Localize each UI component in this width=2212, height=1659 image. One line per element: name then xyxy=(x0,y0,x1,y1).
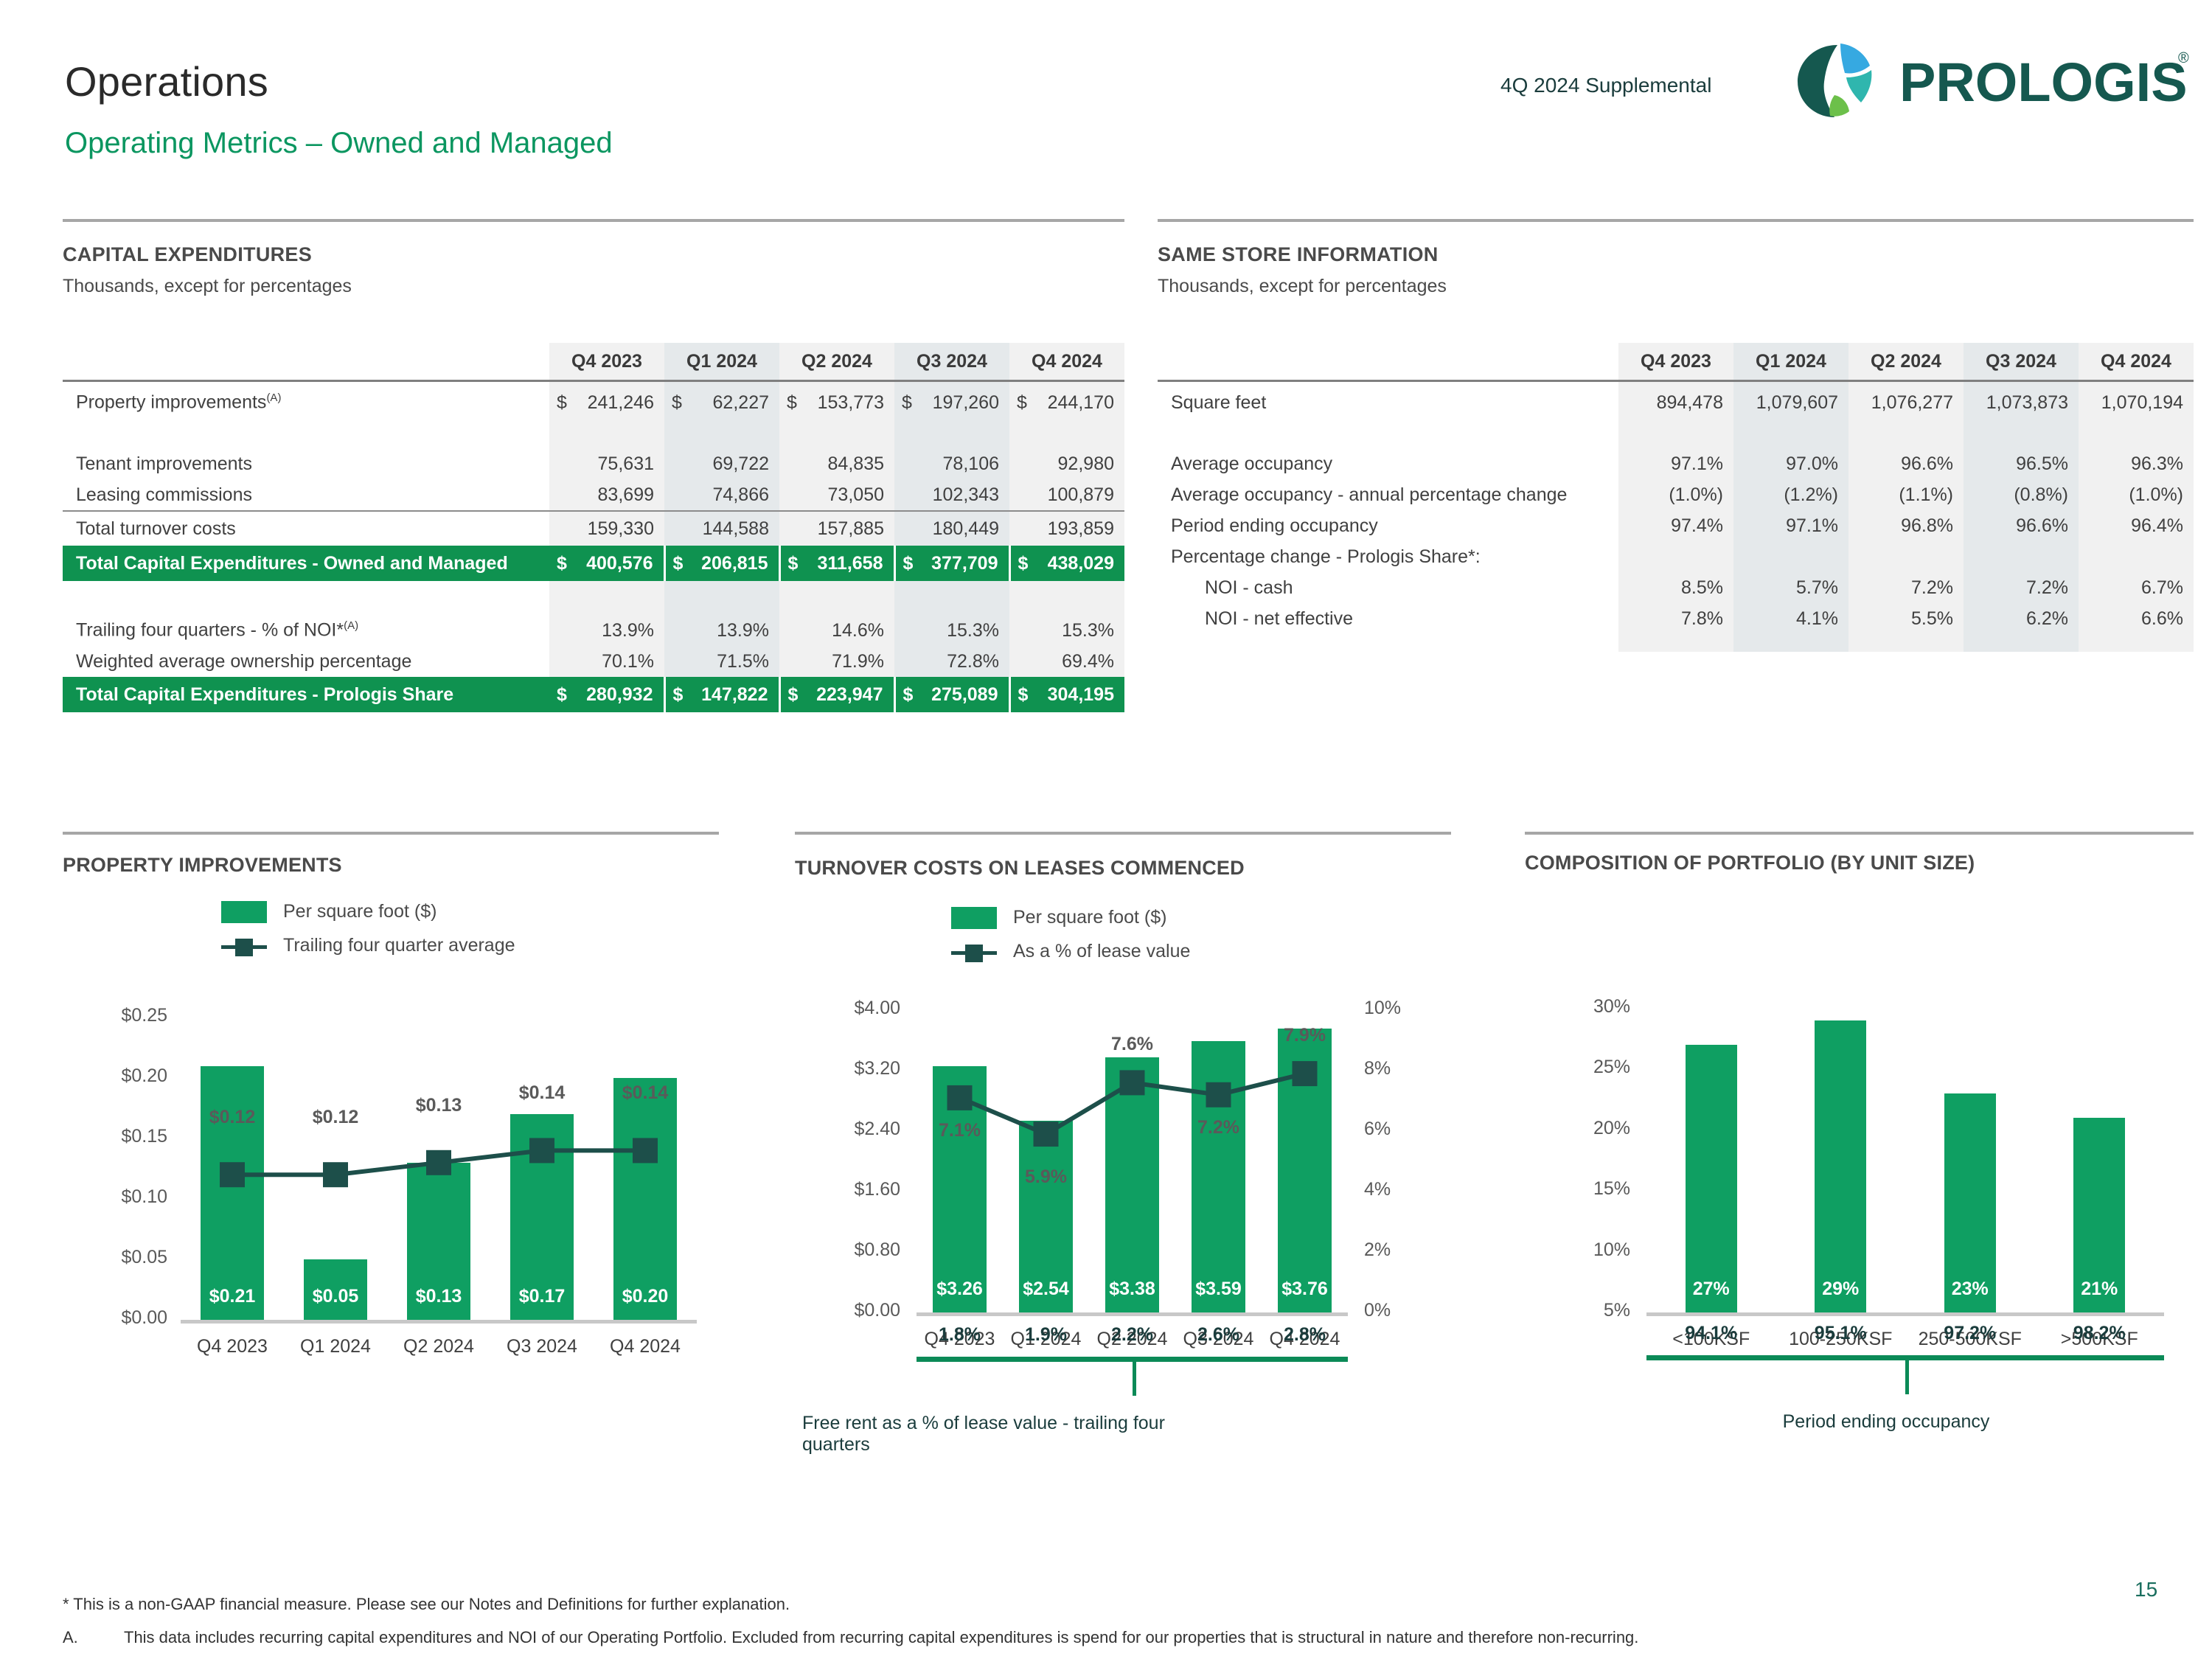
table-cell: 4.1% xyxy=(1733,603,1848,634)
category-label: Q4 2023 xyxy=(181,1336,284,1357)
table-row: Tenant improvements75,63169,72284,83578,… xyxy=(63,448,1124,479)
chart3-rule xyxy=(1525,832,2194,835)
samestore-units: Thousands, except for percentages xyxy=(1158,276,1447,297)
y-axis-tick: $0.05 xyxy=(86,1247,167,1268)
table-cell: 96.8% xyxy=(1848,510,1964,541)
table-cell: 92,980 xyxy=(1009,448,1124,479)
column-header: Q4 2024 xyxy=(1009,343,1124,381)
footnote-star: * This is a non-GAAP financial measure. … xyxy=(63,1595,790,1614)
y-axis-tick: 10% xyxy=(1549,1239,1630,1261)
table-cell xyxy=(2079,541,2194,572)
table-cell: 15.3% xyxy=(1009,615,1124,646)
column-header: Q4 2023 xyxy=(549,343,664,381)
table-spacer-row xyxy=(1158,423,2194,448)
registered-mark: ® xyxy=(2178,50,2189,66)
table-cell: 100,879 xyxy=(1009,479,1124,511)
y-axis-tick: $0.00 xyxy=(819,1300,900,1321)
capex-units: Thousands, except for percentages xyxy=(63,276,352,297)
column-header: Q3 2024 xyxy=(1964,343,2079,381)
table-cell xyxy=(1618,541,1733,572)
table-cell: 96.4% xyxy=(2079,510,2194,541)
column-header: Q1 2024 xyxy=(664,343,779,381)
axis-baseline xyxy=(917,1312,1348,1316)
chart3-title: COMPOSITION OF PORTFOLIO (BY UNIT SIZE) xyxy=(1525,852,1975,874)
bar-value-label: 23% xyxy=(1905,1279,2035,1300)
table-row: NOI - cash8.5%5.7%7.2%7.2%6.7% xyxy=(1158,572,2194,603)
table-cell: $197,260 xyxy=(894,381,1009,424)
page-number: 15 xyxy=(2135,1578,2157,1601)
line-point-label: $0.14 xyxy=(490,1082,594,1104)
samestore-section-rule xyxy=(1158,219,2194,222)
table-cell: 15.3% xyxy=(894,615,1009,646)
table-spacer-row xyxy=(1158,634,2194,652)
table-cell: 144,588 xyxy=(664,511,779,546)
same-store-information-table: Q4 2023Q1 2024Q2 2024Q3 2024Q4 2024Squar… xyxy=(1158,343,2194,652)
column-header: Q2 2024 xyxy=(1848,343,1964,381)
chart1-title: PROPERTY IMPROVEMENTS xyxy=(63,854,342,877)
line-point-label: 7.6% xyxy=(1089,1034,1175,1055)
table-cell: 74,866 xyxy=(664,479,779,511)
bar xyxy=(1105,1057,1159,1312)
turnover-costs-chart: $0.00$0.80$1.60$2.40$3.20$4.000%2%4%6%8%… xyxy=(795,907,1451,1401)
y-axis-tick: $0.20 xyxy=(86,1065,167,1087)
row-label: NOI - net effective xyxy=(1158,603,1618,634)
y-axis-tick: 5% xyxy=(1549,1300,1630,1321)
row-label: Average occupancy - annual percentage ch… xyxy=(1158,479,1618,510)
table-cell: $147,822 xyxy=(664,677,779,712)
table-cell: $223,947 xyxy=(779,677,894,712)
bracket-tick xyxy=(1905,1360,1909,1394)
bar xyxy=(933,1066,987,1312)
bar-value-label: $0.13 xyxy=(387,1286,490,1307)
y-axis-tick: $3.20 xyxy=(819,1058,900,1079)
table-spacer-row xyxy=(63,581,1124,615)
table-cell: 5.7% xyxy=(1733,572,1848,603)
bracket-value: 95.1% xyxy=(1776,1323,1906,1344)
table-cell: 96.5% xyxy=(1964,448,2079,479)
table-cell: 84,835 xyxy=(779,448,894,479)
samestore-heading: SAME STORE INFORMATION xyxy=(1158,243,1439,266)
bar xyxy=(201,1066,265,1320)
chart2-rule xyxy=(795,832,1451,835)
bar xyxy=(1278,1029,1332,1312)
footnote-a-text: This data includes recurring capital exp… xyxy=(124,1628,1638,1647)
line-point-label: 7.9% xyxy=(1262,1025,1348,1046)
row-label: Percentage change - Prologis Share*: xyxy=(1158,541,1618,572)
capital-expenditures-table: Q4 2023Q1 2024Q2 2024Q3 2024Q4 2024Prope… xyxy=(63,343,1124,712)
y-axis-tick: $0.25 xyxy=(86,1005,167,1026)
y2-axis-tick: 8% xyxy=(1364,1058,1445,1079)
table-row: Percentage change - Prologis Share*: xyxy=(1158,541,2194,572)
bar xyxy=(1192,1041,1245,1312)
table-cell: $153,773 xyxy=(779,381,894,424)
property-improvements-chart: $0.00$0.05$0.10$0.15$0.20$0.25$0.21Q4 20… xyxy=(63,907,719,1401)
bracket-bar xyxy=(917,1357,1348,1362)
capex-heading: CAPITAL EXPENDITURES xyxy=(63,243,312,266)
line-point-label: $0.12 xyxy=(181,1107,284,1128)
line-point-label: $0.14 xyxy=(594,1082,697,1104)
bracket-value: 2.6% xyxy=(1175,1324,1262,1346)
bar-value-label: 27% xyxy=(1646,1279,1776,1300)
table-cell: 75,631 xyxy=(549,448,664,479)
y-axis-tick: $0.80 xyxy=(819,1239,900,1261)
table-cell: 7.2% xyxy=(1964,572,2079,603)
bracket-caption: Period ending occupancy xyxy=(1658,1411,2115,1433)
y-axis-tick: 25% xyxy=(1549,1057,1630,1078)
bar-value-label: 29% xyxy=(1776,1279,1906,1300)
bracket-tick xyxy=(1133,1362,1136,1396)
table-cell: 96.6% xyxy=(1964,510,2079,541)
bracket-value: 1.8% xyxy=(917,1324,1003,1346)
table-cell: 102,343 xyxy=(894,479,1009,511)
slide-page: Operations Operating Metrics – Owned and… xyxy=(0,0,2212,1659)
table-cell: 78,106 xyxy=(894,448,1009,479)
table-cell: (1.1%) xyxy=(1848,479,1964,510)
table-cell: $62,227 xyxy=(664,381,779,424)
table-cell: 157,885 xyxy=(779,511,894,546)
row-label: NOI - cash xyxy=(1158,572,1618,603)
bracket-value: 2.8% xyxy=(1262,1324,1348,1346)
row-label: Total turnover costs xyxy=(63,511,549,546)
supplemental-label: 4Q 2024 Supplemental xyxy=(1500,74,1711,97)
bracket-value: 94.1% xyxy=(1646,1323,1776,1344)
table-row: Total Capital Expenditures - Owned and M… xyxy=(63,546,1124,581)
table-cell: 72.8% xyxy=(894,646,1009,677)
bar-value-label: $3.26 xyxy=(917,1279,1003,1300)
table-cell: 5.5% xyxy=(1848,603,1964,634)
table-cell: 69.4% xyxy=(1009,646,1124,677)
bar-value-label: $3.38 xyxy=(1089,1279,1175,1300)
table-cell: 13.9% xyxy=(549,615,664,646)
line-point-label: $0.12 xyxy=(284,1107,387,1128)
bar-value-label: 21% xyxy=(2035,1279,2165,1300)
table-cell: 97.0% xyxy=(1733,448,1848,479)
table-cell: 8.5% xyxy=(1618,572,1733,603)
line-point-label: $0.13 xyxy=(387,1095,490,1116)
bar-value-label: $3.59 xyxy=(1175,1279,1262,1300)
y2-axis-tick: 4% xyxy=(1364,1179,1445,1200)
table-cell: 1,076,277 xyxy=(1848,381,1964,424)
table-header-row: Q4 2023Q1 2024Q2 2024Q3 2024Q4 2024 xyxy=(63,343,1124,381)
table-row: NOI - net effective7.8%4.1%5.5%6.2%6.6% xyxy=(1158,603,2194,634)
row-label: Leasing commissions xyxy=(63,479,549,511)
bar-value-label: $0.21 xyxy=(181,1286,284,1307)
table-cell: 96.6% xyxy=(1848,448,1964,479)
table-cell: 894,478 xyxy=(1618,381,1733,424)
table-cell: 6.7% xyxy=(2079,572,2194,603)
bar xyxy=(1686,1045,1737,1312)
table-cell: 180,449 xyxy=(894,511,1009,546)
row-label: Property improvements(A) xyxy=(63,381,549,424)
bracket-bar xyxy=(1646,1355,2164,1360)
table-spacer-row xyxy=(63,423,1124,448)
table-cell: 97.1% xyxy=(1733,510,1848,541)
y2-axis-tick: 6% xyxy=(1364,1119,1445,1140)
bracket-caption: Free rent as a % of lease value - traili… xyxy=(802,1413,1215,1455)
table-cell: $241,246 xyxy=(549,381,664,424)
table-row: Total Capital Expenditures - Prologis Sh… xyxy=(63,677,1124,712)
bracket-value: 97.2% xyxy=(1905,1323,2035,1344)
bracket-value: 1.9% xyxy=(1003,1324,1089,1346)
table-cell: 159,330 xyxy=(549,511,664,546)
category-label: Q3 2024 xyxy=(490,1336,594,1357)
column-header: Q4 2023 xyxy=(1618,343,1733,381)
row-label: Square feet xyxy=(1158,381,1618,424)
column-header: Q4 2024 xyxy=(2079,343,2194,381)
table-row: Trailing four quarters - % of NOI*(A)13.… xyxy=(63,615,1124,646)
bracket-value: 2.2% xyxy=(1089,1324,1175,1346)
footnote-a-marker: A. xyxy=(63,1628,78,1647)
table-cell: $244,170 xyxy=(1009,381,1124,424)
line-point-label: 7.1% xyxy=(917,1120,1003,1141)
y-axis-tick: $0.10 xyxy=(86,1186,167,1208)
table-cell: 14.6% xyxy=(779,615,894,646)
bar-value-label: $0.05 xyxy=(284,1286,387,1307)
table-cell: 73,050 xyxy=(779,479,894,511)
line-point-label: 5.9% xyxy=(1003,1166,1089,1188)
table-row: Average occupancy97.1%97.0%96.6%96.5%96.… xyxy=(1158,448,2194,479)
bar xyxy=(1815,1020,1866,1312)
page-subtitle: Operating Metrics – Owned and Managed xyxy=(65,127,613,160)
y-axis-tick: 15% xyxy=(1549,1178,1630,1200)
table-row: Total turnover costs159,330144,588157,88… xyxy=(63,511,1124,546)
table-cell: $206,815 xyxy=(664,546,779,581)
table-cell: 83,699 xyxy=(549,479,664,511)
bar-value-label: $0.17 xyxy=(490,1286,594,1307)
table-cell: (0.8%) xyxy=(1964,479,2079,510)
y-axis-tick: $1.60 xyxy=(819,1179,900,1200)
prologis-logo: PROLOGIS ® xyxy=(1792,41,2194,122)
table-cell: $400,576 xyxy=(549,546,664,581)
table-cell: 71.9% xyxy=(779,646,894,677)
table-row: Period ending occupancy97.4%97.1%96.8%96… xyxy=(1158,510,2194,541)
line-point-label: 7.2% xyxy=(1175,1117,1262,1138)
table-cell: $304,195 xyxy=(1009,677,1124,712)
table-cell: 97.4% xyxy=(1618,510,1733,541)
column-header: Q1 2024 xyxy=(1733,343,1848,381)
table-row: Average occupancy - annual percentage ch… xyxy=(1158,479,2194,510)
row-label: Average occupancy xyxy=(1158,448,1618,479)
table-cell: 96.3% xyxy=(2079,448,2194,479)
table-cell: 193,859 xyxy=(1009,511,1124,546)
table-row: Square feet894,4781,079,6071,076,2771,07… xyxy=(1158,381,2194,424)
y2-axis-tick: 0% xyxy=(1364,1300,1445,1321)
logo-wordmark: PROLOGIS xyxy=(1899,52,2188,113)
table-cell: 71.5% xyxy=(664,646,779,677)
axis-baseline xyxy=(181,1320,697,1324)
table-cell: 1,070,194 xyxy=(2079,381,2194,424)
table-cell xyxy=(1733,541,1848,572)
bar-value-label: $3.76 xyxy=(1262,1279,1348,1300)
y-axis-tick: $0.15 xyxy=(86,1126,167,1147)
y-axis-tick: 30% xyxy=(1549,996,1630,1018)
chart1-rule xyxy=(63,832,719,835)
chart2-title: TURNOVER COSTS ON LEASES COMMENCED xyxy=(795,857,1245,880)
globe-icon xyxy=(1798,44,1871,117)
row-label: Tenant improvements xyxy=(63,448,549,479)
column-header: Q3 2024 xyxy=(894,343,1009,381)
table-cell: 69,722 xyxy=(664,448,779,479)
table-cell xyxy=(1848,541,1964,572)
table-cell: 7.8% xyxy=(1618,603,1733,634)
table-cell: 6.2% xyxy=(1964,603,2079,634)
y2-axis-tick: 10% xyxy=(1364,998,1445,1019)
row-label: Weighted average ownership percentage xyxy=(63,646,549,677)
axis-baseline xyxy=(1646,1312,2164,1316)
bracket-value: 98.2% xyxy=(2035,1323,2165,1344)
table-cell: 1,079,607 xyxy=(1733,381,1848,424)
table-cell: (1.0%) xyxy=(2079,479,2194,510)
row-label: Total Capital Expenditures - Prologis Sh… xyxy=(63,677,549,712)
table-cell: 70.1% xyxy=(549,646,664,677)
category-label: Q4 2024 xyxy=(594,1336,697,1357)
table-cell: (1.0%) xyxy=(1618,479,1733,510)
portfolio-composition-chart: 5%10%15%20%25%30%27%<100KSF29%100-250KSF… xyxy=(1525,907,2194,1401)
table-cell xyxy=(1964,541,2079,572)
table-cell: 1,073,873 xyxy=(1964,381,2079,424)
row-label: Total Capital Expenditures - Owned and M… xyxy=(63,546,549,581)
table-cell: $377,709 xyxy=(894,546,1009,581)
table-cell: $438,029 xyxy=(1009,546,1124,581)
bar-value-label: $2.54 xyxy=(1003,1279,1089,1300)
table-cell: 7.2% xyxy=(1848,572,1964,603)
table-cell: $311,658 xyxy=(779,546,894,581)
bar xyxy=(613,1078,678,1320)
table-cell: 6.6% xyxy=(2079,603,2194,634)
row-label: Period ending occupancy xyxy=(1158,510,1618,541)
table-cell: 97.1% xyxy=(1618,448,1733,479)
column-header: Q2 2024 xyxy=(779,343,894,381)
table-cell: 13.9% xyxy=(664,615,779,646)
table-row: Property improvements(A)$241,246$62,227$… xyxy=(63,381,1124,424)
category-label: Q1 2024 xyxy=(284,1336,387,1357)
page-title: Operations xyxy=(65,58,268,105)
category-label: Q2 2024 xyxy=(387,1336,490,1357)
table-cell: $280,932 xyxy=(549,677,664,712)
table-header-row: Q4 2023Q1 2024Q2 2024Q3 2024Q4 2024 xyxy=(1158,343,2194,381)
capex-section-rule xyxy=(63,219,1124,222)
y-axis-tick: $0.00 xyxy=(86,1307,167,1329)
row-label: Trailing four quarters - % of NOI*(A) xyxy=(63,615,549,646)
y-axis-tick: 20% xyxy=(1549,1118,1630,1139)
table-cell: (1.2%) xyxy=(1733,479,1848,510)
table-row: Leasing commissions83,69974,86673,050102… xyxy=(63,479,1124,511)
y2-axis-tick: 2% xyxy=(1364,1239,1445,1261)
y-axis-tick: $4.00 xyxy=(819,998,900,1019)
y-axis-tick: $2.40 xyxy=(819,1119,900,1140)
table-cell: $275,089 xyxy=(894,677,1009,712)
bar-value-label: $0.20 xyxy=(594,1286,697,1307)
table-row: Weighted average ownership percentage70.… xyxy=(63,646,1124,677)
